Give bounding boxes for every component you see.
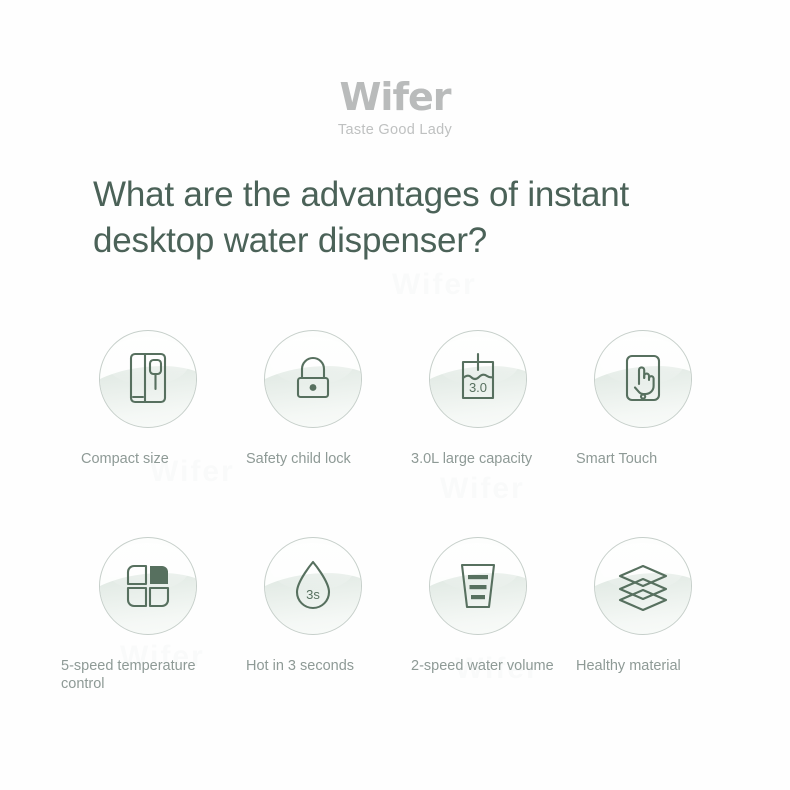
water-dispenser-icon <box>120 351 176 407</box>
feature-icon-circle <box>594 330 692 428</box>
feature-grid: Compact size Safety child lock <box>0 330 790 694</box>
page-title: What are the advantages of instant deskt… <box>93 172 653 264</box>
feature-label: Safety child lock <box>230 450 395 469</box>
feature-item-safety-child-lock: Safety child lock <box>230 330 395 469</box>
brand-logo: Wifer <box>340 78 451 116</box>
promo-page: Wifer Wifer Wifer Wifer Wifer Wifer Wife… <box>0 0 790 790</box>
feature-label: Healthy material <box>560 657 725 676</box>
water-tank-icon: 3.0 <box>450 351 506 407</box>
padlock-icon <box>285 351 341 407</box>
four-squares-grid-icon <box>120 558 176 614</box>
feature-icon-circle <box>99 537 197 635</box>
feature-label: Smart Touch <box>560 450 725 469</box>
feature-item-water-volume: 2-speed water volume <box>395 537 560 694</box>
feature-icon-circle <box>429 537 527 635</box>
feature-icon-circle <box>594 537 692 635</box>
feature-icon-circle: 3.0 <box>429 330 527 428</box>
feature-item-hot-in-3-seconds: 3s Hot in 3 seconds <box>230 537 395 694</box>
stacked-layers-icon <box>615 558 671 614</box>
drinking-glass-icon <box>450 558 506 614</box>
touch-panel-icon <box>615 351 671 407</box>
feature-item-healthy-material: Healthy material <box>560 537 725 694</box>
feature-icon-circle <box>99 330 197 428</box>
feature-item-compact-size: Compact size <box>65 330 230 469</box>
feature-row-2: 5-speed temperature control 3s Hot in 3 … <box>65 537 725 694</box>
feature-icon-circle: 3s <box>264 537 362 635</box>
feature-label: 3.0L large capacity <box>395 450 560 469</box>
brand-block: Wifer Taste Good Lady <box>0 78 790 138</box>
brand-tagline: Taste Good Lady <box>0 122 790 138</box>
feature-item-large-capacity: 3.0 3.0L large capacity <box>395 330 560 469</box>
feature-item-smart-touch: Smart Touch <box>560 330 725 469</box>
droplet-seconds-value: 3s <box>306 587 320 602</box>
water-droplet-icon: 3s <box>285 558 341 614</box>
feature-icon-circle <box>264 330 362 428</box>
feature-item-temperature-control: 5-speed temperature control <box>65 537 230 694</box>
feature-label: 5-speed temperature control <box>55 657 240 694</box>
feature-label: 2-speed water volume <box>395 657 560 676</box>
feature-row-1: Compact size Safety child lock <box>65 330 725 469</box>
feature-label: Compact size <box>65 450 230 469</box>
feature-label: Hot in 3 seconds <box>230 657 395 676</box>
tank-capacity-value: 3.0 <box>468 380 486 395</box>
watermark-text: Wifer <box>392 268 477 302</box>
